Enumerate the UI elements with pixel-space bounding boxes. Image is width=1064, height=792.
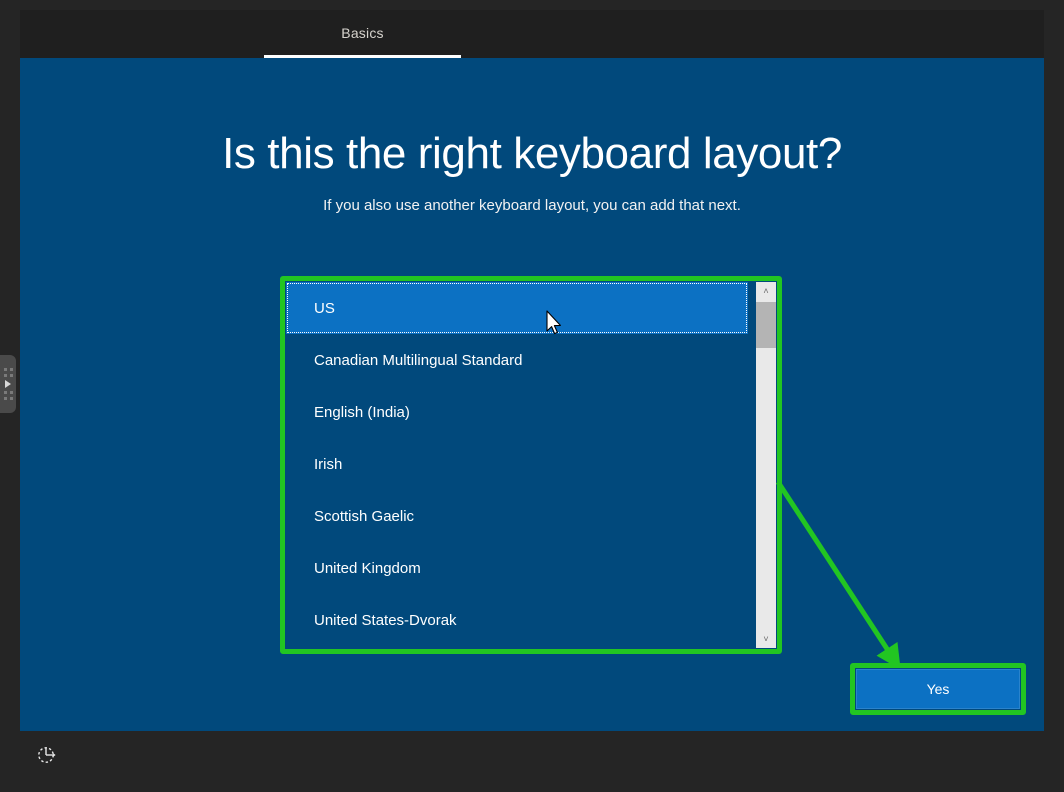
list-item-label: United Kingdom — [314, 560, 421, 577]
handle-dots-icon — [4, 368, 13, 377]
list-item[interactable]: Canadian Multilingual Standard — [286, 334, 748, 386]
list-item-label: US — [314, 300, 335, 317]
list-item[interactable]: United States-Dvorak — [286, 594, 748, 646]
list-item-label: Irish — [314, 456, 342, 473]
handle-play-icon — [5, 380, 11, 388]
scroll-up-arrow-icon[interactable]: ˄ — [756, 282, 776, 300]
page-title: Is this the right keyboard layout? — [20, 129, 1044, 179]
list-item[interactable]: Scottish Gaelic — [286, 490, 748, 542]
ease-of-access-button[interactable] — [34, 741, 60, 767]
keyboard-layout-listbox[interactable]: US Canadian Multilingual Standard Englis… — [286, 282, 776, 648]
vm-window: Basics Is this the right keyboard layout… — [0, 0, 1064, 792]
bottom-bar — [20, 731, 1044, 776]
scrollbar-thumb[interactable] — [756, 302, 776, 348]
tab-strip: Basics — [20, 10, 1044, 58]
list-item-label: English (India) — [314, 404, 410, 421]
scroll-down-arrow-icon[interactable]: ˅ — [756, 630, 776, 648]
list-item-label: Canadian Multilingual Standard — [314, 352, 522, 369]
page-subtitle: If you also use another keyboard layout,… — [20, 197, 1044, 214]
oobe-page: Is this the right keyboard layout? If yo… — [20, 58, 1044, 731]
list-item[interactable]: English (India) — [286, 386, 748, 438]
tab-basics-label: Basics — [341, 25, 383, 41]
list-item[interactable]: US — [286, 282, 748, 334]
arrow-annotation-icon — [760, 458, 930, 668]
handle-dots-icon — [4, 391, 13, 400]
list-item-label: United States-Dvorak — [314, 612, 457, 629]
list-item[interactable]: United Kingdom — [286, 542, 748, 594]
ease-of-access-icon — [36, 743, 58, 765]
yes-button[interactable]: Yes — [856, 669, 1020, 709]
list-item-label: Scottish Gaelic — [314, 508, 414, 525]
yes-button-label: Yes — [927, 681, 950, 697]
tab-basics[interactable]: Basics — [264, 10, 461, 58]
list-item[interactable]: Irish — [286, 438, 748, 490]
list-scrollbar[interactable]: ˄ ˅ — [756, 282, 776, 648]
vm-toolbar-handle[interactable] — [0, 355, 16, 413]
